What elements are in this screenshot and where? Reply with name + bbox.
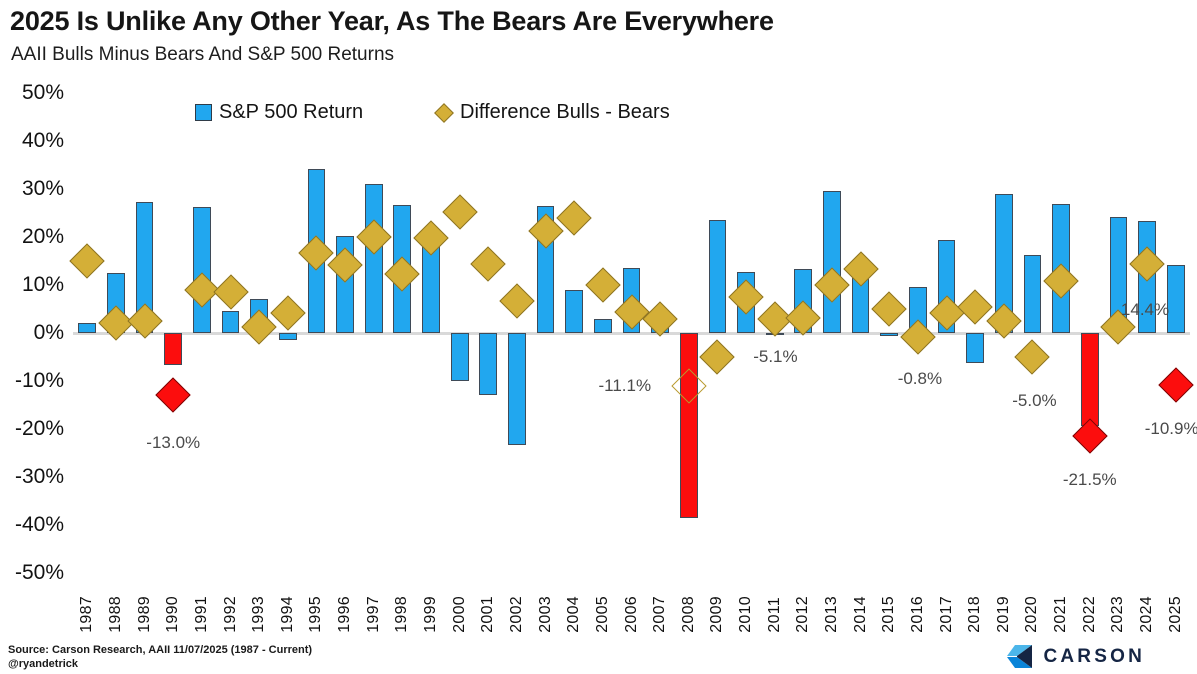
y-axis-tick: 20% — [22, 225, 64, 249]
diamond-2015[interactable] — [872, 291, 907, 326]
diamond-1998[interactable] — [385, 257, 420, 292]
x-axis-tick: 2021 — [1052, 596, 1070, 633]
bar-2008[interactable] — [680, 333, 698, 518]
bar-2013[interactable] — [823, 191, 841, 333]
plot-area: -13.0%-11.1%-5.1%-0.8%-5.0%-21.5%14.4%-1… — [73, 93, 1190, 573]
x-axis-tick: 1989 — [136, 596, 154, 633]
bar-2005[interactable] — [594, 319, 612, 333]
bar-1991[interactable] — [193, 207, 211, 333]
diamond-2009[interactable] — [700, 340, 735, 375]
x-axis-tick: 1994 — [279, 596, 297, 633]
x-axis-tick: 2011 — [766, 597, 784, 633]
y-axis-tick: -10% — [15, 369, 64, 393]
diamond-1992[interactable] — [213, 274, 248, 309]
x-axis-tick: 2024 — [1138, 596, 1156, 633]
x-axis-tick: 2000 — [451, 596, 469, 633]
x-axis-tick: 2013 — [823, 596, 841, 633]
diamond-2025[interactable] — [1158, 368, 1193, 403]
diamond-2005[interactable] — [585, 268, 620, 303]
diamond-2017[interactable] — [929, 296, 964, 331]
value-label-2020: -5.0% — [1012, 391, 1056, 411]
bar-2020[interactable] — [1024, 255, 1042, 333]
x-axis-tick: 1995 — [307, 596, 325, 633]
diamond-2020[interactable] — [1015, 339, 1050, 374]
x-axis-tick: 2016 — [909, 596, 927, 633]
x-axis-tick: 2010 — [737, 596, 755, 633]
x-axis-tick: 2002 — [508, 596, 526, 633]
x-axis-tick: 2008 — [680, 596, 698, 633]
bar-2001[interactable] — [479, 333, 497, 395]
diamond-2012[interactable] — [786, 300, 821, 335]
y-axis-tick: -40% — [15, 513, 64, 537]
y-axis-tick: -20% — [15, 417, 64, 441]
x-axis-tick: 2018 — [966, 596, 984, 633]
x-axis-tick: 2017 — [938, 596, 956, 633]
y-axis-tick: -30% — [15, 465, 64, 489]
diamond-1990[interactable] — [156, 378, 191, 413]
diamond-2006[interactable] — [614, 294, 649, 329]
diamond-2010[interactable] — [728, 279, 763, 314]
x-axis: 1987198819891990199119921993199419951996… — [73, 573, 1190, 633]
brand-name: CARSON — [1043, 646, 1145, 668]
x-axis-tick: 1999 — [422, 596, 440, 633]
x-axis-tick: 1998 — [393, 596, 411, 633]
diamond-2008[interactable] — [671, 369, 706, 404]
y-axis-tick: 30% — [22, 177, 64, 201]
diamond-2001[interactable] — [471, 246, 506, 281]
x-axis-tick: 2006 — [623, 596, 641, 633]
bar-2018[interactable] — [966, 333, 984, 363]
x-axis-tick: 2005 — [594, 596, 612, 633]
page-subtitle: AAII Bulls Minus Bears And S&P 500 Retur… — [11, 44, 394, 66]
diamond-2000[interactable] — [442, 194, 477, 229]
x-axis-tick: 2007 — [651, 596, 669, 633]
chart-page: 2025 Is Unlike Any Other Year, As The Be… — [0, 0, 1197, 673]
bar-1992[interactable] — [222, 311, 240, 333]
bar-1994[interactable] — [279, 333, 297, 340]
value-label-2009: -5.1% — [753, 347, 797, 367]
bar-2002[interactable] — [508, 333, 526, 445]
source-note: Source: Carson Research, AAII 11/07/2025… — [8, 643, 312, 657]
x-axis-tick: 1996 — [336, 596, 354, 633]
x-axis-tick: 2012 — [794, 596, 812, 633]
value-label-2008: -11.1% — [598, 376, 651, 396]
value-label-1990: -13.0% — [146, 433, 200, 453]
bar-2009[interactable] — [709, 220, 727, 333]
y-axis-tick: 10% — [22, 273, 64, 297]
x-axis-tick: 1997 — [365, 596, 383, 633]
diamond-1987[interactable] — [70, 244, 105, 279]
x-axis-tick: 2014 — [852, 596, 870, 633]
x-axis-tick: 2009 — [708, 596, 726, 633]
x-axis-tick: 2020 — [1023, 596, 1041, 633]
x-axis-tick: 2001 — [479, 596, 497, 633]
value-label-2025: -10.9% — [1145, 419, 1197, 439]
x-axis-tick: 2019 — [995, 596, 1013, 633]
brand-logo: CARSON — [1007, 645, 1145, 669]
x-axis-tick: 1991 — [193, 596, 211, 633]
diamond-2022[interactable] — [1072, 419, 1107, 454]
bar-2025[interactable] — [1167, 265, 1185, 333]
diamond-1997[interactable] — [356, 219, 391, 254]
diamond-2024[interactable] — [1129, 246, 1164, 281]
carson-logo-icon — [1007, 645, 1033, 669]
diamond-2016[interactable] — [900, 319, 935, 354]
x-axis-tick: 2023 — [1109, 596, 1127, 633]
diamond-2002[interactable] — [499, 284, 534, 319]
diamond-1999[interactable] — [413, 220, 448, 255]
bar-1997[interactable] — [365, 184, 383, 333]
diamond-1988[interactable] — [98, 306, 133, 341]
value-label-2022: -21.5% — [1063, 470, 1117, 490]
author-handle: @ryandetrick — [8, 657, 78, 671]
bar-2000[interactable] — [451, 333, 469, 381]
bar-1990[interactable] — [164, 333, 182, 365]
x-axis-tick: 1990 — [164, 596, 182, 633]
y-axis-tick: 40% — [22, 129, 64, 153]
bar-2004[interactable] — [565, 290, 583, 333]
x-axis-tick: 1992 — [222, 596, 240, 633]
y-axis: 50%40%30%20%10%0%-10%-20%-30%-40%-50% — [0, 93, 68, 573]
y-axis-tick: 50% — [22, 81, 64, 105]
bar-2015[interactable] — [880, 333, 898, 336]
x-axis-tick: 1988 — [107, 596, 125, 633]
x-axis-tick: 2004 — [565, 596, 583, 633]
diamond-2013[interactable] — [814, 267, 849, 302]
x-axis-tick: 1993 — [250, 596, 268, 633]
value-label-2024: 14.4% — [1121, 300, 1169, 320]
x-axis-tick: 2025 — [1167, 596, 1185, 633]
bar-2022[interactable] — [1081, 333, 1099, 426]
value-label-2016: -0.8% — [898, 369, 942, 389]
diamond-2014[interactable] — [843, 251, 878, 286]
y-axis-tick: -50% — [15, 561, 64, 585]
y-axis-tick: 0% — [34, 321, 64, 345]
x-axis-tick: 2022 — [1081, 596, 1099, 633]
x-axis-tick: 2003 — [537, 596, 555, 633]
x-axis-tick: 1987 — [78, 596, 96, 633]
chart-legend: S&P 500 Return Difference Bulls - Bears — [0, 0, 1197, 30]
bar-1987[interactable] — [78, 323, 96, 333]
x-axis-tick: 2015 — [880, 596, 898, 633]
diamond-2021[interactable] — [1043, 263, 1078, 298]
